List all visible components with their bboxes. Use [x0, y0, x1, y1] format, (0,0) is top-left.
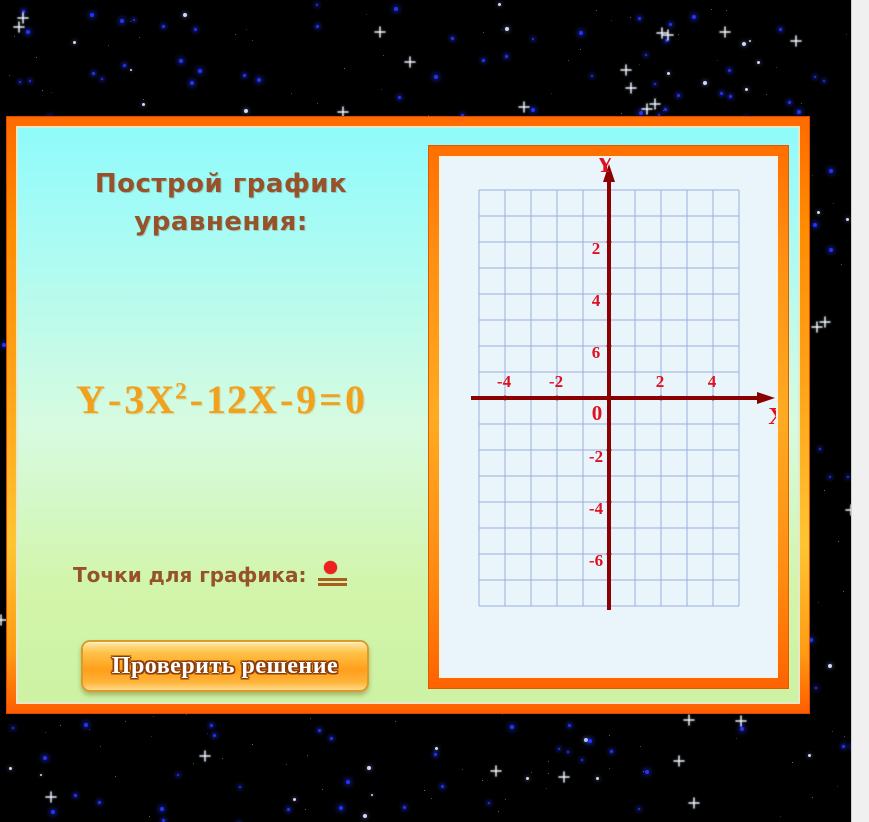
star-dust [252, 744, 253, 745]
star-dot [828, 664, 832, 668]
task-title-line-1: Построй график [18, 166, 424, 204]
star-dot [133, 19, 135, 21]
star-dust [663, 110, 664, 111]
star-dot [584, 738, 588, 742]
star-dust [846, 34, 847, 35]
star-dust [546, 788, 547, 789]
star-dust [711, 9, 712, 10]
star-dot [482, 59, 485, 62]
star-dust [246, 29, 247, 30]
star-dot [720, 92, 723, 95]
star-sparkle [661, 32, 662, 33]
star-dust [818, 602, 819, 603]
star-dot [257, 78, 261, 82]
equation-lhs-var: Y [76, 377, 106, 422]
star-dust [482, 780, 483, 781]
star-dust [431, 798, 432, 799]
origin-label: 0 [592, 401, 603, 425]
star-dust [717, 60, 718, 61]
star-sparkle [824, 321, 825, 322]
star-dust [548, 773, 549, 774]
x-axis-label: X [768, 404, 776, 430]
star-dot [101, 78, 103, 80]
star-dot [371, 794, 373, 796]
star-dot [596, 777, 599, 780]
star-dust [291, 93, 292, 94]
equation-op-1: - [106, 377, 124, 422]
star-dot [239, 786, 241, 788]
star-dust [381, 89, 382, 90]
star-dust [383, 55, 384, 56]
star-dot [779, 28, 782, 31]
star-dust [149, 816, 150, 817]
exercise-card-inner: Построй график уравнения: Y-3X2-12X-9=0 … [16, 126, 800, 704]
star-dust [4, 345, 5, 346]
star-dust [505, 799, 506, 800]
points-legend: Точки для графика: [73, 558, 403, 592]
x-axis-tick-dot [503, 396, 508, 401]
star-sparkle [625, 69, 626, 70]
equation-term-1-exponent: 2 [175, 379, 188, 404]
star-dust [531, 772, 532, 773]
star-dot [130, 69, 132, 71]
equation-term-2: 12X [206, 377, 278, 422]
star-sparkle [18, 26, 19, 27]
star-dot [757, 61, 760, 64]
y-axis-tick-dot [607, 292, 612, 297]
star-dust [252, 40, 253, 41]
x-axis-tick-dot [555, 396, 560, 401]
star-dot [183, 13, 187, 17]
star-dot [665, 39, 668, 42]
star-dot [645, 770, 649, 774]
star-dust [462, 769, 463, 770]
x-tick-label: 4 [708, 372, 717, 391]
task-title-line-2: уравнения: [18, 204, 424, 242]
star-dot [19, 81, 21, 83]
star-dust [193, 763, 194, 764]
star-dust [143, 99, 144, 100]
star-dust [841, 264, 842, 265]
x-tick-label: 2 [656, 372, 665, 391]
axis-tick-labels: -4-224642-2-4-60 [497, 239, 717, 570]
star-dust [611, 20, 612, 21]
star-dot [22, 10, 25, 13]
star-dot [318, 729, 321, 732]
star-dust [42, 90, 43, 91]
star-dust [89, 729, 90, 730]
star-dot [729, 95, 732, 98]
star-dust [207, 733, 208, 734]
star-sparkle [630, 87, 631, 88]
star-dust [139, 37, 140, 38]
star-dust [9, 75, 10, 76]
star-dot [664, 108, 667, 111]
star-dust [621, 113, 622, 114]
star-dust [322, 789, 323, 790]
star-sparkle [816, 326, 817, 327]
star-dust [344, 68, 345, 69]
star-sparkle [724, 31, 725, 32]
star-dust [428, 115, 429, 116]
star-dust [36, 57, 37, 58]
star-dot [654, 83, 656, 85]
star-dot [488, 802, 490, 804]
star-dust [108, 45, 109, 46]
star-dust [548, 761, 549, 762]
star-dot [243, 74, 246, 77]
star-dust [45, 732, 46, 733]
y-axis-label: Y [596, 158, 613, 178]
star-dot [403, 806, 406, 809]
star-dot [210, 724, 213, 727]
star-dot [846, 218, 849, 221]
star-dot [9, 767, 12, 770]
star-dust [843, 591, 844, 592]
star-dust [609, 768, 610, 769]
star-dot [84, 723, 88, 727]
star-dot [815, 687, 817, 689]
star-dust [832, 731, 833, 732]
star-dust [596, 10, 597, 11]
y-tick-label: 6 [592, 343, 601, 362]
star-dust [502, 714, 503, 715]
star-dust [824, 490, 825, 491]
star-dot [346, 780, 350, 784]
star-dot [749, 40, 751, 42]
star-dust [844, 736, 845, 737]
star-dust [833, 203, 834, 204]
graph-panel-inner[interactable]: -4-224642-2-4-60YX [439, 156, 778, 678]
axes [471, 164, 775, 610]
star-dust [551, 93, 552, 94]
star-dot [510, 725, 514, 729]
star-dot [162, 25, 165, 28]
equation-op-3: - [278, 377, 296, 422]
star-dot [823, 80, 825, 82]
star-dust [838, 541, 839, 542]
equation-text: Y-3X2-12X-9=0 [18, 376, 424, 423]
star-sparkle [654, 103, 655, 104]
star-sparkle [342, 111, 343, 112]
star-dot [398, 96, 401, 99]
points-legend-label: Точки для графика: [73, 563, 306, 587]
star-dot [814, 76, 816, 78]
star-dot [692, 15, 696, 19]
star-dot [532, 38, 534, 40]
star-dot [817, 211, 820, 214]
star-dot [610, 750, 613, 753]
star-dust [395, 721, 396, 722]
star-dust [639, 64, 640, 65]
star-dot [90, 13, 94, 17]
y-tick-label: -2 [589, 447, 603, 466]
task-column: Построй график уравнения: Y-3X2-12X-9=0 … [18, 128, 424, 702]
star-dot [581, 759, 583, 761]
y-axis-tick-dot [607, 552, 612, 557]
star-dot [809, 638, 813, 642]
star-dot [142, 103, 145, 106]
star-dot [179, 59, 183, 63]
star-dot [98, 801, 101, 804]
star-dot [451, 37, 454, 40]
star-dot [639, 111, 643, 115]
star-dot [190, 81, 194, 85]
star-dot [92, 72, 95, 75]
star-dust [151, 736, 152, 737]
star-dot [638, 17, 641, 20]
star-dust [643, 771, 644, 772]
star-sparkle [678, 760, 679, 761]
star-dot [788, 101, 791, 104]
point-marker-swatch[interactable] [318, 561, 348, 589]
star-dust [580, 49, 581, 50]
y-tick-label: -4 [589, 499, 604, 518]
star-dust [305, 809, 306, 810]
star-dot [740, 727, 744, 731]
star-dot [591, 75, 593, 77]
equation-equals-sign: = [317, 377, 345, 422]
star-dot [434, 753, 437, 756]
star-dust [51, 92, 52, 93]
star-sparkle [795, 40, 796, 41]
star-dot [123, 64, 126, 67]
star-dot [526, 777, 529, 780]
star-sparkle [379, 31, 380, 32]
star-sparkle [204, 755, 205, 756]
star-dot [797, 110, 801, 114]
star-sparkle [523, 106, 524, 107]
star-dust [812, 175, 813, 176]
star-dot [74, 794, 77, 797]
star-dot [194, 28, 197, 31]
star-sparkle [646, 108, 647, 109]
red-dot-icon [324, 561, 337, 574]
screen-root: Построй график уравнения: Y-3X2-12X-9=0 … [0, 0, 869, 822]
star-dust [780, 816, 781, 817]
star-dot [40, 774, 42, 776]
star-dot [658, 114, 660, 116]
star-dust [317, 103, 318, 104]
y-tick-label: 4 [592, 291, 601, 310]
star-dot [316, 4, 318, 6]
star-dot [43, 756, 47, 760]
star-dust [60, 725, 61, 726]
equation-term-1-coef: 3X [124, 377, 175, 422]
star-dot [745, 88, 748, 91]
star-dot [498, 3, 501, 6]
star-dust [125, 721, 126, 722]
star-dust [307, 755, 308, 756]
star-dot [363, 814, 367, 818]
star-dust [186, 714, 187, 715]
star-dust [100, 746, 101, 747]
star-dot [677, 94, 680, 97]
star-sparkle [409, 61, 410, 62]
star-dot [645, 54, 647, 56]
star-dot [579, 31, 583, 35]
star-dot [12, 727, 14, 729]
y-tick-label: 2 [592, 239, 601, 258]
star-dot [531, 108, 535, 112]
y-tick-label: -6 [589, 551, 603, 570]
star-dot [330, 737, 333, 740]
check-solution-button[interactable]: Проверить решение [81, 640, 369, 692]
star-dot [568, 724, 571, 727]
star-dust [812, 797, 813, 798]
star-dot [120, 19, 124, 23]
star-dot [394, 7, 398, 11]
y-axis-tick-dot [607, 344, 612, 349]
star-dot [505, 27, 509, 31]
star-dust [222, 758, 223, 759]
star-dust [678, 34, 679, 35]
star-dot [813, 223, 817, 227]
star-dot [2, 343, 6, 347]
star-dot [198, 69, 202, 73]
star-dot [703, 81, 707, 85]
star-dot [29, 80, 31, 82]
star-dot [742, 42, 746, 46]
y-axis-tick-dot [607, 500, 612, 505]
star-dot [177, 774, 179, 776]
star-dust [310, 718, 311, 719]
star-dot [316, 25, 319, 28]
star-dot [829, 248, 833, 252]
star-sparkle [740, 720, 741, 721]
swatch-underline-bottom [318, 583, 347, 586]
star-dust [366, 14, 367, 15]
star-dot [73, 41, 76, 44]
star-dust [130, 21, 131, 22]
star-dust [501, 29, 502, 30]
star-sparkle [693, 802, 694, 803]
star-dust [568, 60, 569, 61]
star-dot [667, 72, 670, 75]
star-dot [505, 55, 508, 58]
star-sparkle [667, 34, 668, 35]
star-dust [801, 103, 802, 104]
x-axis-tick-dot [659, 396, 664, 401]
star-dust [14, 36, 15, 37]
star-sparkle [0, 619, 1, 620]
page-title: Построй график уравнения: [18, 166, 424, 241]
equation-op-2: - [188, 377, 206, 422]
star-dot [842, 745, 845, 748]
star-dot [287, 808, 290, 811]
star-dust [424, 790, 425, 791]
star-dust [609, 735, 610, 736]
star-dot [441, 785, 444, 788]
star-dot [808, 754, 811, 757]
star-dust [726, 10, 727, 11]
x-tick-label: -4 [497, 372, 512, 391]
x-axis-arrowhead [757, 392, 775, 404]
y-axis-tick-dot [607, 448, 612, 453]
star-sparkle [50, 796, 51, 797]
equation-term-3: 9 [296, 377, 317, 422]
star-dust [792, 762, 793, 763]
star-dot [367, 766, 371, 770]
star-dot [244, 109, 248, 113]
x-axis-tick-dot [711, 396, 716, 401]
swatch-underline-top [318, 578, 347, 581]
star-dust [483, 32, 484, 33]
star-dot [435, 747, 438, 750]
x-tick-label: -2 [549, 372, 563, 391]
star-dot [26, 30, 30, 34]
y-axis-tick-dot [607, 240, 612, 245]
check-solution-button-label: Проверить решение [112, 653, 338, 680]
coordinate-plane[interactable]: -4-224642-2-4-60YX [441, 158, 776, 676]
exercise-card: Построй график уравнения: Y-3X2-12X-9=0 … [7, 117, 809, 713]
star-dust [235, 34, 236, 35]
star-dot [588, 739, 592, 743]
star-dust [115, 776, 116, 777]
star-dot [669, 23, 672, 26]
graph-panel: -4-224642-2-4-60YX [429, 146, 788, 688]
star-dot [728, 69, 731, 72]
star-dot [558, 748, 560, 750]
star-dot [829, 169, 833, 173]
equation-rhs: 0 [345, 377, 366, 422]
star-dot [339, 806, 343, 810]
star-dot [819, 448, 821, 450]
star-dot [160, 807, 164, 811]
star-sparkle [688, 719, 689, 720]
star-dust [837, 786, 838, 787]
star-dust [640, 746, 641, 747]
star-dot [51, 810, 55, 814]
star-dot [567, 751, 569, 753]
star-dust [776, 67, 777, 68]
page-scrollbar-gutter[interactable] [851, 0, 869, 822]
star-sparkle [22, 17, 23, 18]
star-dot [293, 798, 296, 801]
star-dust [630, 17, 631, 18]
star-dot [638, 808, 640, 810]
star-dot [829, 476, 831, 478]
star-sparkle [495, 770, 496, 771]
star-dot [213, 734, 216, 737]
star-dust [498, 811, 499, 812]
star-dust [286, 764, 287, 765]
star-sparkle [563, 776, 564, 777]
star-dust [736, 738, 737, 739]
star-dot [434, 75, 438, 79]
star-dot [847, 476, 849, 478]
star-dust [766, 94, 767, 95]
star-dust [153, 716, 154, 717]
